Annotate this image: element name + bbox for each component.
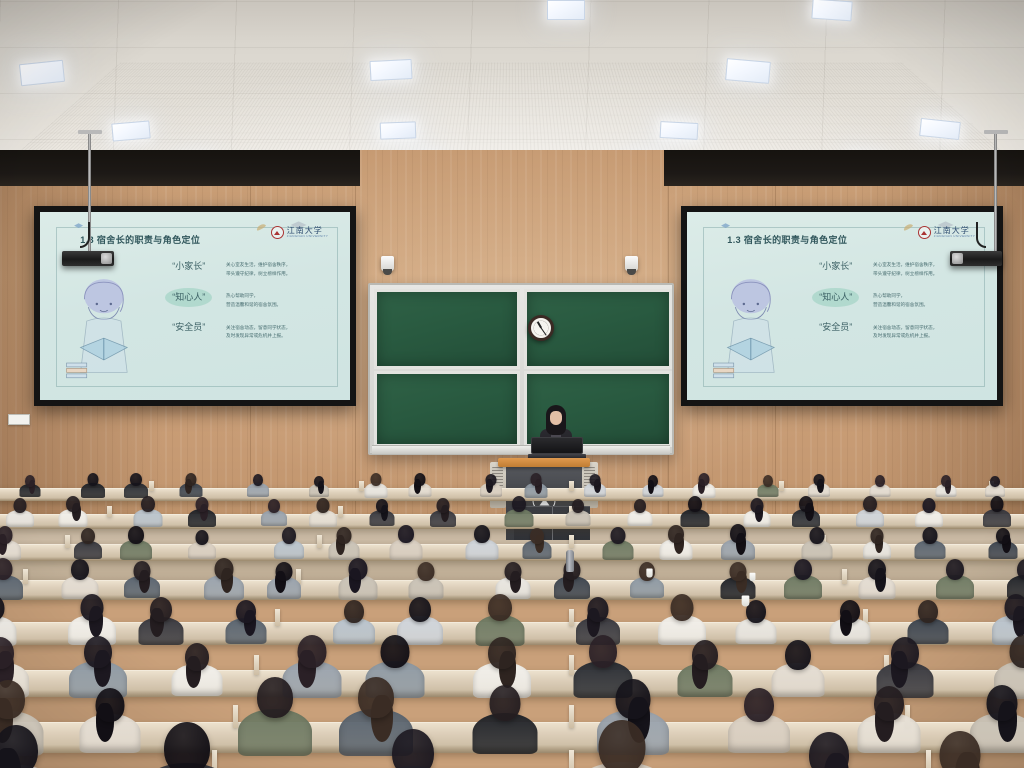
audience-head (150, 597, 172, 622)
audience-member (627, 499, 652, 529)
audience-member (274, 527, 304, 563)
slide-description-line: 带头遵守纪律，树立榜样作用。 (873, 270, 982, 279)
desk-divider (359, 481, 364, 491)
projector-lens-icon (101, 253, 112, 264)
slide-role-label: “安全员” (805, 322, 867, 333)
audience-head (0, 526, 13, 544)
ceiling-panel-light (811, 0, 852, 21)
student-reading-illustration (62, 276, 146, 393)
audience-member (365, 473, 388, 501)
audience-head (314, 476, 324, 487)
audience-head (891, 637, 919, 669)
desk-divider (842, 569, 847, 584)
audience-head (809, 732, 849, 768)
projector-ceiling-plate (78, 130, 102, 134)
slide-description-block: 热心帮助同学，营造温馨和谐的宿舍氛围。 (873, 292, 982, 309)
audience-head (799, 496, 813, 512)
audience-head (587, 597, 608, 622)
audience-head (130, 473, 142, 486)
presenter-laptop (528, 437, 586, 459)
audience-head (344, 600, 364, 623)
slide-description-line: 热心帮助同学， (873, 292, 982, 301)
audience-head (589, 635, 617, 668)
audience-member (735, 600, 776, 649)
audience-head (648, 475, 658, 487)
ceiling-panel-light (547, 0, 585, 20)
audience-member (309, 498, 337, 530)
audience-head (794, 559, 812, 580)
audience-head (87, 473, 98, 486)
podium-desktop (498, 458, 590, 467)
audience-member (788, 732, 870, 768)
audience-head (336, 527, 351, 544)
audience-head (414, 473, 425, 486)
audience-head (868, 559, 886, 580)
audience-head (599, 720, 646, 768)
audience-head (590, 474, 601, 486)
desk-divider (779, 481, 784, 491)
audience-head (996, 528, 1010, 544)
audience-head (81, 594, 104, 621)
audience-member (20, 475, 41, 500)
audience-head (488, 637, 516, 669)
audience-head (257, 677, 293, 718)
audience-head (530, 528, 544, 544)
slide-description-line: 关注宿舍动态，留意同学状态， (873, 324, 982, 333)
audience-head (437, 498, 450, 513)
audience-member (504, 496, 533, 530)
audience-head (371, 473, 382, 486)
paper-cup (742, 596, 750, 607)
audience-member (721, 562, 756, 603)
ceiling-panel-light (370, 59, 413, 81)
audience-member (480, 474, 502, 500)
audience-head (488, 594, 512, 621)
audience-member (936, 559, 974, 604)
desk-divider (254, 655, 259, 675)
slide-descriptions-right: 关心室友生活，维护宿舍秩序，带头遵守纪律，树立榜样作用。热心帮助同学，营造温馨和… (873, 261, 982, 355)
audience-head (750, 498, 763, 513)
audience-member (430, 498, 456, 530)
audience-head (185, 473, 196, 486)
audience-head (692, 640, 718, 670)
audience-head (486, 474, 497, 486)
audience-member (59, 496, 88, 530)
audience-head (474, 525, 490, 543)
audience-member (466, 525, 499, 564)
slide-title-right: 1.3 宿舍长的职责与角色定位 (727, 233, 847, 246)
projector-pole (994, 132, 997, 254)
ceiling-panel-light (111, 120, 150, 141)
audience-head (940, 731, 981, 768)
audience-head (922, 498, 935, 513)
slide-title-left: 1.3 宿舍长的职责与角色定位 (80, 233, 200, 246)
audience-head (991, 496, 1004, 512)
audience-head (730, 524, 746, 543)
audience-head (730, 562, 747, 581)
slide-role-label: “小家长” (158, 261, 220, 272)
university-logo-left: 江南大学 JIANGNAN UNIVERSITY (271, 226, 329, 239)
audience-head (13, 498, 26, 513)
audience-head (95, 688, 124, 722)
audience-head (409, 597, 431, 622)
audience-member (859, 559, 896, 603)
audience-member (728, 688, 790, 761)
slide-roles-left: “小家长”“知心人”“安全员” (158, 261, 220, 349)
audience-member (784, 559, 822, 604)
audience-head (25, 475, 35, 487)
screen-frame: 江南大学 JIANGNAN UNIVERSITY 1.3 宿舍长的职责与角色定位 (681, 206, 1003, 406)
slide-description-line: 营造温馨和谐的宿舍氛围。 (873, 301, 982, 310)
audience-member (863, 528, 891, 562)
audience-head (809, 527, 824, 544)
paper-cup (646, 569, 652, 578)
university-seal-icon (918, 226, 931, 239)
audience-member (339, 558, 378, 605)
slide-role-label: “知心人” (165, 288, 212, 307)
audience-head (671, 594, 694, 621)
audience-head (418, 562, 435, 581)
slide-role-label: “知心人” (812, 288, 859, 307)
wall-speaker-right (625, 256, 638, 271)
desk-divider (317, 535, 322, 548)
audience-member (918, 731, 1003, 768)
slide-description-block: 关注宿舍动态，留意同学状态，及时发现异常或危机并上报。 (873, 324, 982, 341)
audience-member (408, 473, 431, 500)
audience-head (986, 685, 1017, 721)
audience-head (164, 722, 210, 768)
audience-member (473, 685, 538, 762)
slide-description-line: 营造温馨和谐的宿舍氛围。 (226, 301, 335, 310)
audience-head (1004, 594, 1024, 621)
audience-member (757, 475, 778, 500)
slide-description-block: 关注宿舍动态，留意同学状态，及时发现异常或危机并上报。 (226, 324, 335, 341)
ceiling-panel-light (19, 60, 65, 86)
audience-head (504, 562, 521, 581)
wall-dark-band-left (0, 150, 360, 186)
clock-face-ticks (533, 320, 549, 336)
audience-head (84, 636, 112, 668)
audience-head (358, 677, 394, 718)
water-bottle (566, 550, 574, 572)
audience-head (376, 499, 388, 513)
audience-head (490, 685, 521, 721)
audience-member (677, 640, 732, 704)
audience-head (185, 643, 209, 671)
audience-member (261, 499, 287, 529)
ceiling-panel-light (725, 58, 771, 84)
lecturer-face (550, 411, 562, 425)
projector-body (62, 251, 114, 266)
audience-member (721, 524, 755, 564)
desk-divider (569, 535, 574, 548)
desk-divider (65, 535, 70, 548)
audience-member (602, 527, 633, 564)
audience-head (610, 527, 625, 544)
student-reading-illustration (709, 276, 793, 393)
audience-member (584, 474, 606, 500)
audience-head (66, 496, 80, 512)
slide-role-label: “小家长” (805, 261, 867, 272)
audience-head (282, 527, 296, 544)
slide-description-line: 及时发现异常或危机并上报。 (226, 332, 335, 341)
audience-head (531, 473, 542, 486)
audience-head (195, 530, 208, 545)
audience-member (660, 525, 693, 564)
audience-head (572, 499, 584, 513)
desk-divider (569, 609, 574, 626)
audience-member (370, 729, 457, 768)
audience-head (381, 635, 410, 668)
audience-head (253, 474, 263, 486)
audience-head (941, 475, 951, 487)
lecture-hall-photo: 江南大学 JIANGNAN UNIVERSITY 1.3 宿舍长的职责与角色定位 (0, 0, 1024, 768)
audience-head (398, 525, 414, 543)
audience-member (204, 558, 244, 605)
audience-head (298, 635, 327, 668)
audience-member (856, 496, 884, 530)
audience-head (874, 686, 904, 721)
projector-ceiling-plate (984, 130, 1008, 134)
audience-member (238, 677, 312, 765)
slide-description-line: 关注宿舍动态，留意同学状态， (226, 324, 335, 333)
audience-head (71, 559, 89, 580)
audience-head (870, 528, 883, 544)
wall-clock (528, 315, 554, 341)
university-name-en: JIANGNAN UNIVERSITY (934, 235, 976, 238)
audience-head (615, 679, 650, 719)
audience-member (389, 525, 422, 564)
audience-head (392, 729, 434, 768)
audience-member (172, 643, 223, 703)
audience-seating (0, 470, 1024, 768)
laptop-screen (531, 437, 583, 454)
chalk-tray (372, 445, 670, 454)
audience-head (634, 499, 646, 513)
audience-member (79, 688, 140, 761)
university-logo-right: 江南大学 JIANGNAN UNIVERSITY (918, 226, 976, 239)
slide-description-line: 热心帮助同学， (226, 292, 335, 301)
ceiling-panel-light (380, 121, 417, 139)
audience-member (522, 528, 551, 563)
slide-description-line: 关心室友生活，维护宿舍秩序， (226, 261, 335, 270)
university-name-en: JIANGNAN UNIVERSITY (287, 235, 329, 238)
projection-screen-right: 江南大学 JIANGNAN UNIVERSITY 1.3 宿舍长的职责与角色定位 (681, 206, 1003, 406)
audience-head (946, 559, 964, 580)
slide-right: 江南大学 JIANGNAN UNIVERSITY 1.3 宿舍长的职责与角色定位 (687, 212, 997, 400)
audience-head (840, 600, 860, 623)
audience-head (141, 496, 155, 512)
audience-member (915, 498, 943, 530)
blackboard (368, 283, 674, 455)
desk-divider (275, 609, 280, 626)
audience-head (275, 562, 292, 581)
projector-body (950, 251, 1002, 266)
audience-head (688, 496, 702, 512)
audience-head (763, 475, 773, 487)
wall-speaker-left (381, 256, 394, 271)
slide-roles-right: “小家长”“知心人”“安全员” (805, 261, 867, 349)
wall-dark-band-right (664, 150, 1024, 186)
audience-head (785, 640, 811, 670)
audience-head (316, 498, 329, 513)
blackboard-panel-top-left (374, 289, 520, 369)
audience-member (225, 600, 266, 649)
audience-member (0, 725, 61, 768)
desk-divider (107, 506, 112, 517)
audience-member (188, 497, 216, 530)
audience-member (792, 496, 820, 530)
university-seal-icon (271, 226, 284, 239)
slide-description-line: 带头遵守纪律，树立榜样作用。 (226, 270, 335, 279)
slide-role-label: “安全员” (158, 322, 220, 333)
audience-head (236, 600, 256, 623)
audience-head (512, 496, 526, 512)
audience-member (989, 528, 1018, 562)
audience-head (349, 558, 368, 580)
audience-member (267, 562, 301, 603)
audience-member (983, 496, 1011, 530)
audience-member (309, 476, 329, 500)
audience-head (215, 558, 234, 580)
slide-description-block: 关心室友生活，维护宿舍秩序，带头遵守纪律，树立榜样作用。 (226, 261, 335, 278)
wall-sign (8, 414, 30, 425)
projector-cable (976, 222, 986, 248)
audience-head (128, 526, 144, 544)
audience-member (74, 528, 102, 562)
audience-head (195, 497, 208, 512)
audience-head (81, 528, 95, 544)
audience-member (566, 499, 591, 529)
audience-member (574, 720, 671, 768)
audience-head (813, 474, 824, 486)
audience-member (643, 475, 664, 500)
audience-head (863, 496, 877, 512)
audience-head (268, 499, 280, 513)
audience-head (133, 561, 150, 581)
audience-member (120, 526, 152, 564)
desk-divider (23, 569, 28, 584)
projector-lens-icon (952, 253, 963, 264)
audience-member (179, 473, 202, 500)
slide-description-line: 及时发现异常或危机并上报。 (873, 332, 982, 341)
audience-member (915, 527, 946, 563)
audience-member (139, 722, 234, 768)
audience-head (698, 473, 709, 486)
audience-head (668, 525, 684, 543)
blackboard-panel-bottom-left (374, 371, 520, 447)
slide-description-block: 热心帮助同学，营造温馨和谐的宿舍氛围。 (226, 292, 335, 309)
audience-head (744, 688, 774, 722)
ceiling-panel-light (660, 121, 699, 140)
audience-member (935, 475, 956, 500)
paper-cup (750, 573, 756, 582)
slide-descriptions-left: 关心室友生活，维护宿舍秩序，带头遵守纪律，树立榜样作用。热心帮助同学，营造温馨和… (226, 261, 335, 355)
audience-head (990, 476, 1000, 487)
audience-head (875, 475, 885, 487)
desk-divider (149, 481, 154, 491)
audience-head (918, 600, 938, 623)
audience-head (0, 725, 38, 768)
audience-member (247, 474, 269, 500)
audience-member (830, 600, 871, 649)
desk-divider (338, 506, 343, 517)
audience-head (923, 527, 938, 544)
desk-divider (569, 481, 574, 491)
